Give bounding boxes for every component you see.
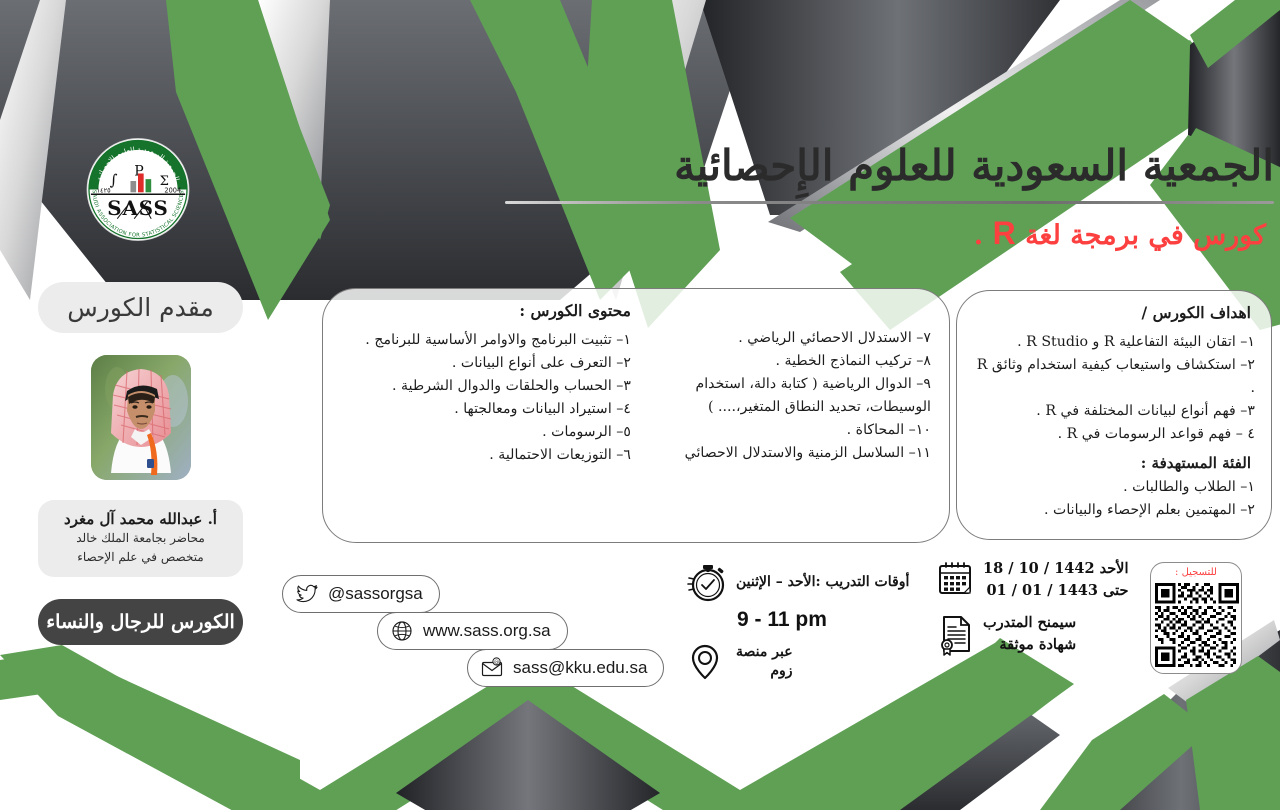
qr-code-icon[interactable]	[1155, 579, 1239, 671]
content-item: ٧– الاستدلال الاحصائي الرياضي .	[641, 327, 931, 350]
content-heading: محتوى الكورس :	[341, 301, 631, 320]
content-item: ٣– الحساب والحلقات والدوال الشرطية .	[341, 375, 631, 398]
training-time-range: 9 - 11 pm	[680, 608, 884, 632]
poster-root: الجمعية السعودية للعلوم الإحصائية SAUDI …	[0, 0, 1280, 810]
audience-badge: الكورس للرجال والنساء	[38, 599, 243, 645]
certificate-icon	[935, 612, 975, 656]
objective-item: ٤ – فهم قواعد الرسومات في R .	[971, 423, 1255, 446]
target-audience-heading: الفئة المستهدفة :	[971, 454, 1255, 472]
email-text: sass@kku.edu.sa	[513, 658, 647, 678]
objective-item: ١– اتقان البيئة التفاعلية R و R Studio .	[971, 331, 1255, 354]
course-date-lines: الأحد 1442 / 10 / 18 حتى 1443 / 01 / 01	[983, 558, 1128, 602]
presenter-photo	[91, 355, 191, 480]
email-pill[interactable]: @ sass@kku.edu.sa	[467, 649, 664, 687]
twitter-handle-pill[interactable]: @sassorgsa	[282, 575, 440, 613]
r-language-label: R	[993, 215, 1016, 251]
content-column-right: محتوى الكورس : ١– تثبيت البرنامج والاوام…	[341, 301, 633, 532]
registration-label: للتسجيل :	[1155, 567, 1237, 578]
schedule-block: أوقات التدريب :الأحد – الإثنين 9 - 11 pm…	[680, 558, 920, 686]
presenter-specialty: متخصص في علم الإحصاء	[44, 548, 237, 567]
certificate-lines: سيمنح المتدرب شهادة موثقة	[983, 612, 1076, 656]
svg-text:∫: ∫	[110, 171, 118, 189]
platform-line-2: زوم	[736, 662, 793, 681]
presenter-photo-image	[91, 355, 191, 480]
content-item: ١١– السلاسل الزمنية والاستدلال الاحصائي	[641, 442, 931, 465]
content-item: ٦– التوزيعات الاحتمالية .	[341, 444, 631, 467]
content-item: ٤– استيراد البيانات ومعالجتها .	[341, 398, 631, 421]
location-pin-icon	[680, 638, 730, 686]
course-start-date: الأحد 1442 / 10 / 18	[983, 558, 1128, 580]
content-item: ٢– التعرف على أنواع البيانات .	[341, 352, 631, 375]
course-subtitle-text: كورس في برمجة لغة	[1025, 220, 1266, 251]
sass-logo-icon: الجمعية السعودية للعلوم الإحصائية SAUDI …	[62, 132, 214, 247]
email-icon: @	[480, 656, 504, 680]
svg-text:SASS: SASS	[107, 196, 169, 220]
platform-label: عبر منصة زوم	[736, 643, 793, 681]
website-pill[interactable]: www.sass.org.sa	[377, 612, 568, 650]
registration-qr-card[interactable]: للتسجيل :	[1150, 562, 1242, 674]
course-end-date: حتى 1443 / 01 / 01	[983, 580, 1128, 602]
presenter-section-label: مقدم الكورس	[38, 282, 243, 333]
presenter-column: مقدم الكورس	[38, 282, 243, 645]
course-content-panel: محتوى الكورس : ١– تثبيت البرنامج والاوام…	[322, 288, 950, 543]
certificate-line-1: سيمنح المتدرب	[983, 612, 1076, 634]
organization-title: الجمعية السعودية للعلوم الإِحصائية	[490, 140, 1274, 193]
certificate-line-2: شهادة موثقة	[983, 634, 1076, 656]
content-item: ٥– الرسومات .	[341, 421, 631, 444]
header-title-block: الجمعية السعودية للعلوم الإِحصائية كورس …	[490, 140, 1280, 252]
presenter-info-card: أ. عبدالله محمد آل مغرد محاضر بجامعة الم…	[38, 500, 243, 577]
platform-line-1: عبر منصة	[736, 643, 793, 662]
objective-item: ٢– استكشاف واستيعاب كيفية استخدام وثائق …	[971, 354, 1255, 400]
website-text: www.sass.org.sa	[423, 621, 551, 641]
sass-logo: الجمعية السعودية للعلوم الإحصائية SAUDI …	[62, 132, 214, 247]
content-item: ٩– الدوال الرياضية ( كتابة دالة، استخدام…	[641, 373, 931, 419]
presenter-name: أ. عبدالله محمد آل مغرد	[44, 509, 237, 529]
calendar-icon	[935, 558, 975, 602]
twitter-handle-text: @sassorgsa	[328, 584, 423, 604]
course-subtitle: كورس في برمجة لغة R .	[490, 215, 1274, 252]
course-subtitle-period: .	[974, 220, 983, 251]
svg-text:@: @	[494, 660, 499, 666]
content-item: ١– تثبيت البرنامج والاوامر الأساسية للبر…	[341, 329, 631, 352]
training-time-label: أوقات التدريب :الأحد – الإثنين	[736, 573, 909, 592]
title-divider	[505, 201, 1274, 204]
dates-block: الأحد 1442 / 10 / 18 حتى 1443 / 01 / 01	[935, 558, 1150, 656]
content-column-left: ٧– الاستدلال الاحصائي الرياضي . ٨– تركيب…	[639, 301, 931, 532]
svg-text:Σ: Σ	[160, 174, 169, 189]
stopwatch-icon	[680, 558, 730, 606]
course-dates-row: الأحد 1442 / 10 / 18 حتى 1443 / 01 / 01	[935, 558, 1150, 602]
target-audience-item: ١– الطلاب والطالبات .	[971, 476, 1255, 499]
target-audience-item: ٢– المهتمين بعلم الإحصاء والبيانات .	[971, 499, 1255, 522]
certificate-row: سيمنح المتدرب شهادة موثقة	[935, 612, 1150, 656]
presenter-affiliation: محاضر بجامعة الملك خالد	[44, 529, 237, 548]
objectives-panel: اهداف الكورس / ١– اتقان البيئة التفاعلية…	[956, 290, 1272, 540]
objectives-heading: اهداف الكورس /	[971, 303, 1255, 322]
globe-icon	[390, 619, 414, 643]
content-item: ٨– تركيب النماذج الخطية .	[641, 350, 931, 373]
contact-links: @sassorgsa www.sass.org.sa @ sass@kku.ed…	[282, 575, 662, 690]
twitter-icon	[295, 582, 319, 606]
objective-item: ٣– فهم أنواع لبيانات المختلفة في R .	[971, 400, 1255, 423]
content-item: ١٠– المحاكاة .	[641, 419, 931, 442]
platform-row: عبر منصة زوم	[680, 638, 920, 686]
training-time-row: أوقات التدريب :الأحد – الإثنين	[680, 558, 920, 606]
